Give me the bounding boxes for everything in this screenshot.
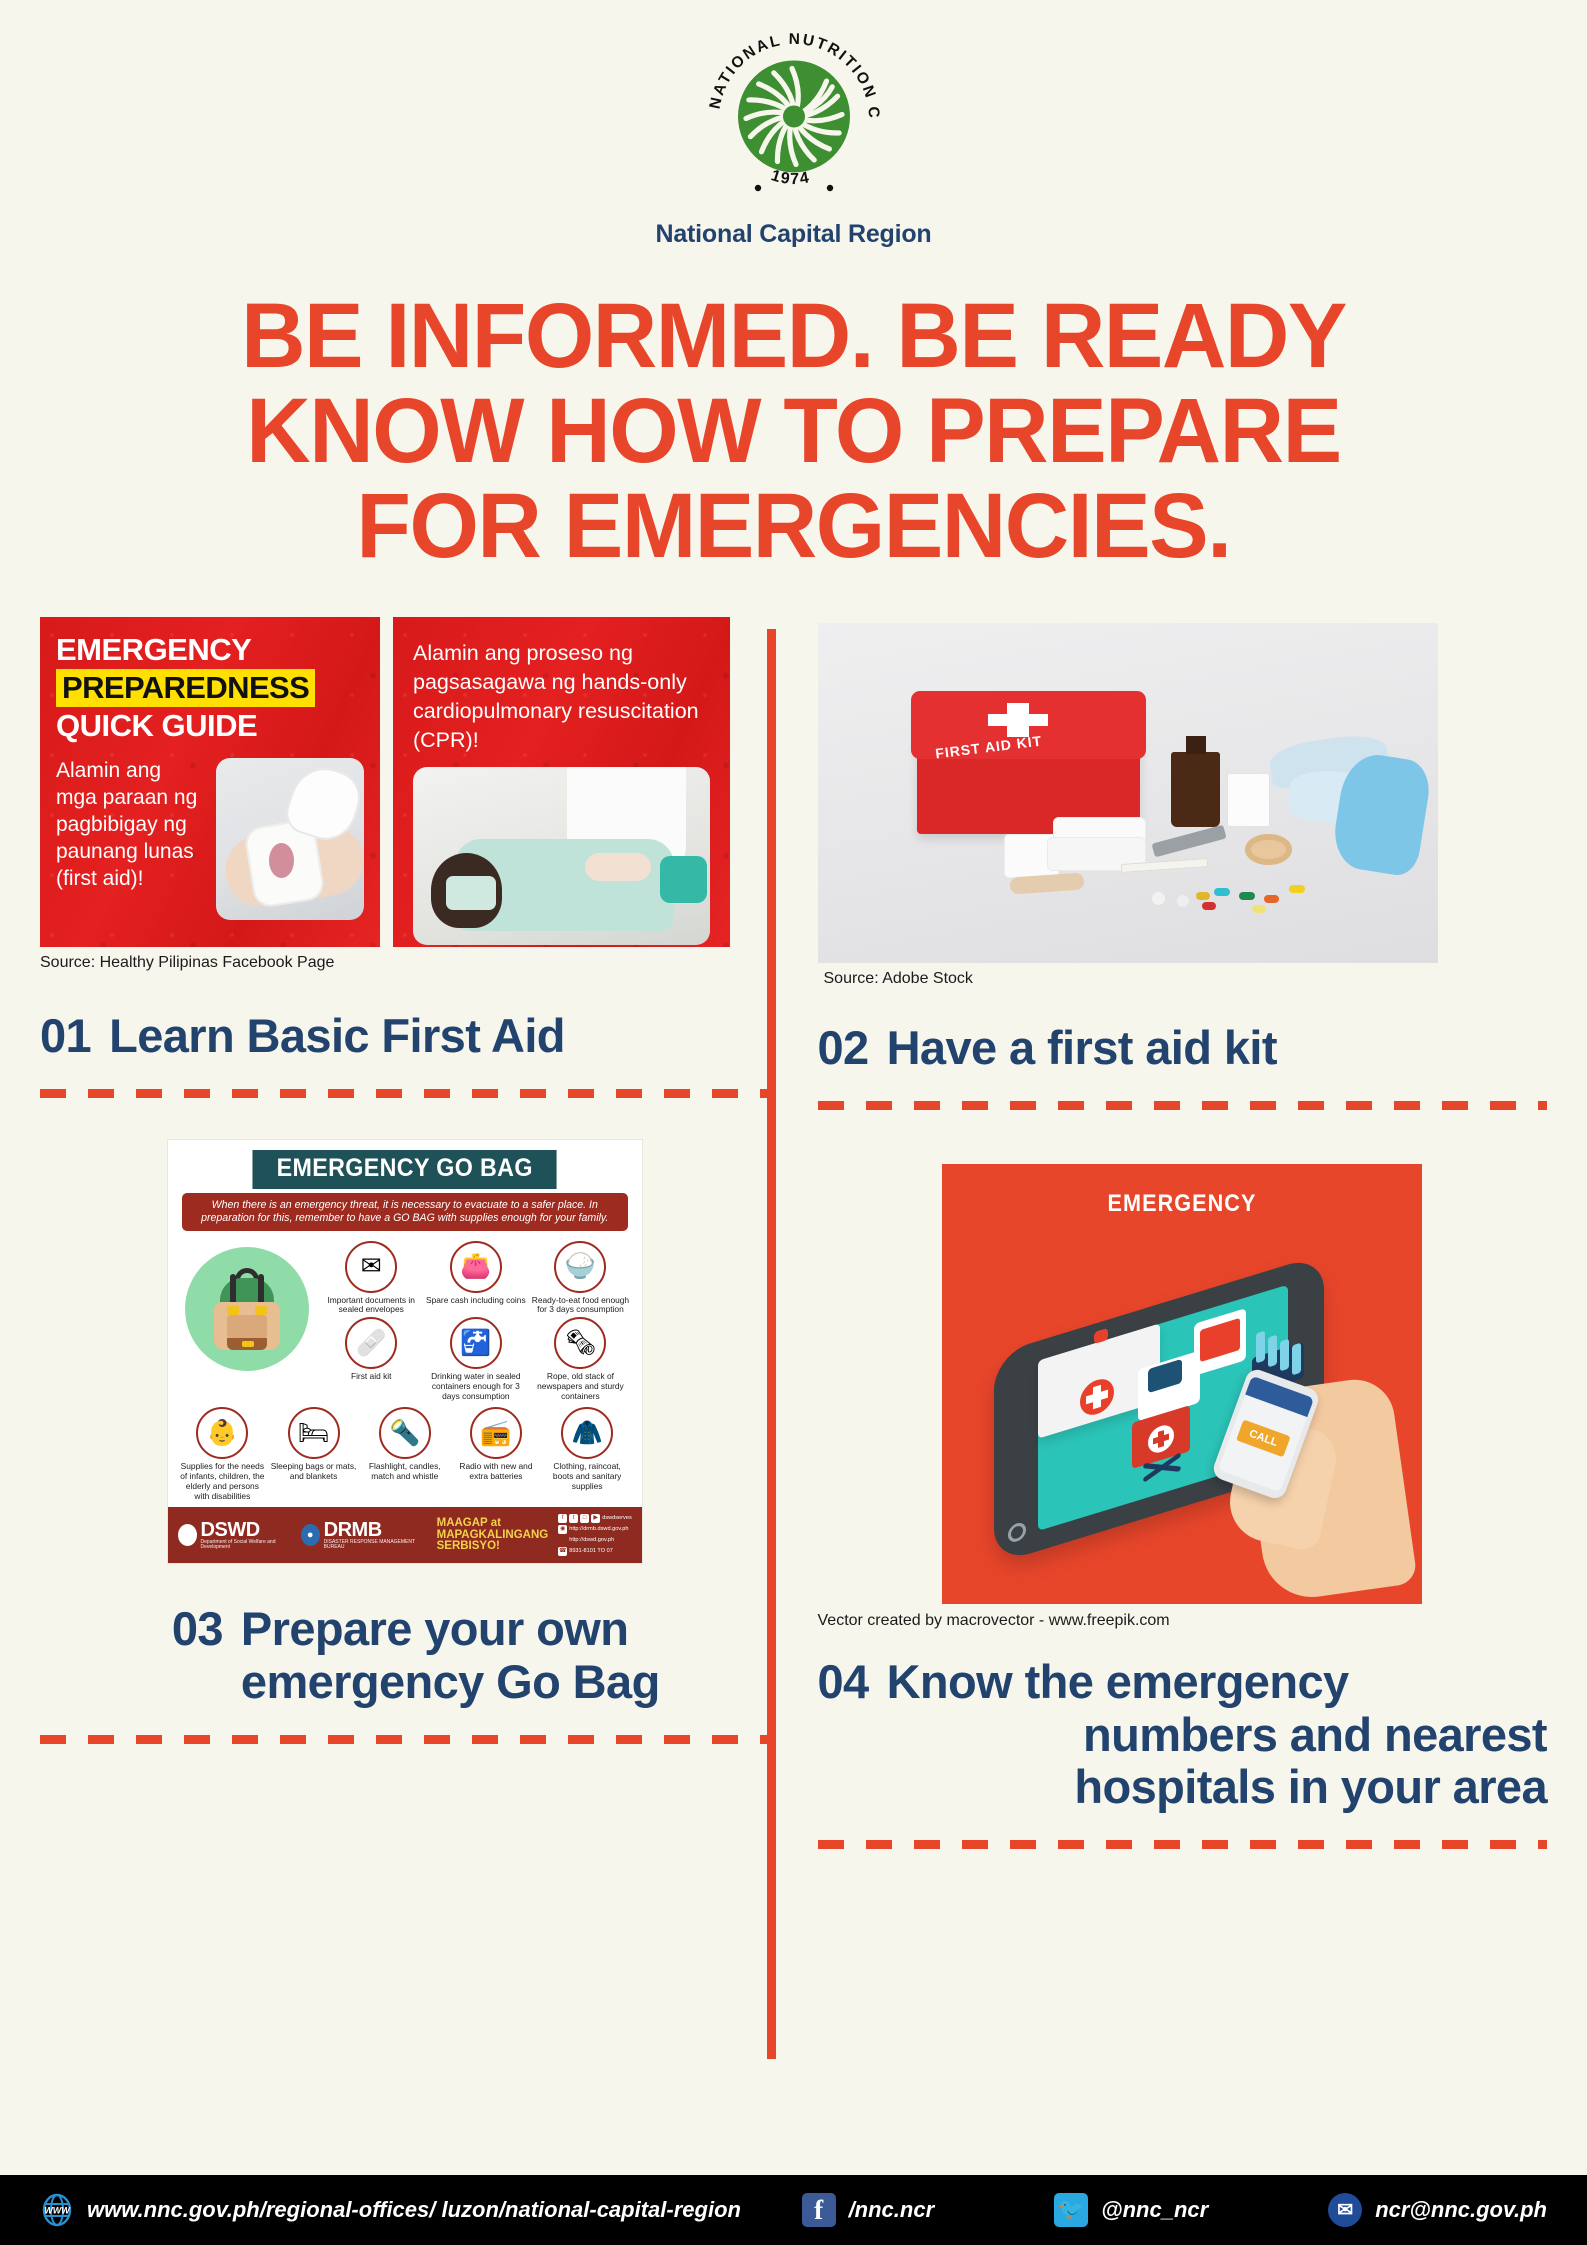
go-bag-item: 🍚 Ready-to-eat food enough for 3 days co… (529, 1241, 632, 1316)
hp-kicker: EMERGENCY (56, 634, 364, 666)
food-pack-icon: 🍚 (554, 1241, 606, 1293)
cpr-facemask-shape (446, 876, 496, 910)
go-bag-intro: When there is an emergency threat, it is… (182, 1193, 628, 1231)
maagap-campaign: MAAGAP at MAPAGKALINGANG SERBISYO! (437, 1518, 549, 1553)
footer-website-text: www.nnc.gov.ph/regional-offices/ luzon/n… (87, 2197, 741, 2223)
title-line-3: FOR EMERGENCIES. (92, 479, 1496, 574)
test-tube-shape (1256, 1330, 1265, 1363)
card-01-title: Learn Basic First Aid (109, 1010, 769, 1063)
footer-facebook-text: /nnc.ncr (849, 2197, 935, 2223)
footer-bar: WWW www.nnc.gov.ph/regional-offices/ luz… (0, 2175, 1587, 2245)
facebook-icon: f (558, 1514, 567, 1523)
hp-panel-right: Alamin ang proseso ng pagsasagawa ng han… (393, 617, 730, 947)
healthy-pilipinas-graphic: EMERGENCY PREPAREDNESS QUICK GUIDE Alami… (40, 617, 730, 947)
dswd-social-icons: f t □ ▶ dswdserves (558, 1514, 632, 1523)
footer-twitter-text: @nnc_ncr (1101, 2197, 1208, 2223)
dswd-url-2: http://dswd.gov.ph (569, 1537, 614, 1544)
kit-cross-icon (988, 714, 1048, 726)
go-bag-item-label: First aid kit (351, 1372, 392, 1382)
pill-shape (1202, 902, 1216, 910)
dswd-badge-icon: ★ (178, 1524, 197, 1546)
right-column: FIRST AID KIT (818, 617, 1548, 1849)
dswd-url-1: http://drmb.dswd.gov.ph (569, 1526, 628, 1533)
footer-email-text: ncr@nnc.gov.ph (1375, 2197, 1547, 2223)
water-bottles-icon: 🚰 (450, 1317, 502, 1369)
pill-shape (1264, 895, 1279, 903)
card-03-heading: 03 Prepare your own emergency Go Bag (40, 1603, 770, 1708)
title-line-2: KNOW HOW TO PREPARE (92, 384, 1496, 479)
go-bag-item-label: Clothing, raincoat, boots and sanitary s… (543, 1462, 632, 1491)
backpack-icon (185, 1247, 309, 1371)
go-bag-item: ✉ Important documents in sealed envelope… (320, 1241, 423, 1316)
dswd-handle: dswdserves (602, 1515, 632, 1522)
go-bag-item: 🚰 Drinking water in sealed containers en… (425, 1317, 528, 1401)
flashlight-icon: 🔦 (379, 1407, 431, 1459)
card-04-divider (818, 1840, 1548, 1849)
card-03: EMERGENCY GO BAG When there is an emerge… (40, 1140, 770, 1744)
test-tube-shape (1280, 1338, 1289, 1371)
card-01: EMERGENCY PREPAREDNESS QUICK GUIDE Alami… (40, 617, 770, 1098)
dswd-name: DSWD (201, 1521, 291, 1540)
dswd-subtitle: Department of Social Welfare and Develop… (201, 1540, 291, 1551)
envelopes-icon: ✉ (345, 1241, 397, 1293)
globe-www-icon: WWW (40, 2193, 74, 2227)
hp-subtitle: QUICK GUIDE (56, 710, 364, 743)
youtube-icon: ▶ (591, 1514, 600, 1523)
page-title: BE INFORMED. BE READY KNOW HOW TO PREPAR… (24, 289, 1563, 573)
header: NATIONAL NUTRITION COUNCIL 1974 (0, 0, 1587, 249)
left-column: EMERGENCY PREPAREDNESS QUICK GUIDE Alami… (40, 617, 770, 1849)
dswd-logo: ★ DSWD Department of Social Welfare and … (178, 1521, 291, 1551)
card-04-credit: Vector created by macrovector - www.free… (818, 1612, 1548, 1630)
diaper-icon: 👶 (196, 1407, 248, 1459)
footer-facebook[interactable]: f /nnc.ncr (802, 2193, 935, 2227)
logo-sunburst-icon (730, 52, 858, 180)
phone-icon: ☎ (558, 1547, 567, 1556)
card-01-source: Source: Healthy Pilipinas Facebook Page (40, 954, 770, 972)
card-04: EMERGENCY (818, 1164, 1548, 1849)
dswd-contact-block: f t □ ▶ dswdserves ◉ http://drmb.dswd.go… (558, 1514, 632, 1556)
go-bag-item-label: Ready-to-eat food enough for 3 days cons… (529, 1296, 632, 1316)
cpr-hands-shape (585, 853, 650, 881)
go-bag-body: ✉ Important documents in sealed envelope… (168, 1231, 642, 1406)
card-02-divider (818, 1101, 1548, 1110)
card-04-title-line-1: Know the emergency (887, 1655, 1349, 1708)
campaign-line-3: SERBISYO! (437, 1541, 549, 1553)
card-03-number: 03 (172, 1603, 223, 1708)
card-01-heading: 01 Learn Basic First Aid (40, 1010, 770, 1063)
go-bag-item: 🩹 First aid kit (320, 1317, 423, 1401)
medical-tape-shape (1245, 834, 1292, 865)
dswd-url-1-row: ◉ http://drmb.dswd.gov.ph (558, 1525, 632, 1534)
globe-icon: ◉ (558, 1525, 567, 1534)
go-bag-item-label: Drinking water in sealed containers enou… (425, 1372, 528, 1401)
drmb-logo: ● DRMB DISASTER RESPONSE MANAGEMENT BURE… (301, 1521, 421, 1551)
pill-shape (1177, 895, 1189, 907)
scissors-shape (1152, 825, 1227, 857)
go-bag-item: 🛏 Sleeping bags or mats, and blankets (269, 1407, 358, 1501)
card-01-number: 01 (40, 1010, 91, 1063)
card-04-title: Know the emergency numbers and nearest h… (887, 1656, 1547, 1814)
radio-icon: 📻 (470, 1407, 522, 1459)
rope-newspaper-icon: 🗞 (554, 1317, 606, 1369)
first-aid-kit-photo: FIRST AID KIT (818, 623, 1438, 963)
pill-shape (1152, 892, 1165, 905)
card-02-number: 02 (818, 1022, 869, 1075)
card-03-title: Prepare your own emergency Go Bag (241, 1603, 660, 1708)
cpr-photo (413, 767, 710, 945)
facebook-icon: f (802, 2193, 836, 2227)
bandaged-arm-photo (216, 758, 364, 920)
drmb-name: DRMB (324, 1521, 421, 1540)
card-04-number: 04 (818, 1656, 869, 1814)
raincoat-icon: 🧥 (561, 1407, 613, 1459)
brown-bottle-shape (1171, 752, 1221, 827)
pill-shape (1239, 892, 1255, 900)
card-01-media: EMERGENCY PREPAREDNESS QUICK GUIDE Alami… (40, 617, 770, 972)
go-bag-item-label: Flashlight, candles, match and whistle (360, 1462, 449, 1482)
nnc-logo: NATIONAL NUTRITION COUNCIL 1974 (701, 26, 887, 212)
drmb-badge-icon: ● (301, 1524, 320, 1546)
go-bag-item: 👛 Spare cash including coins (425, 1241, 528, 1316)
logo-caption: National Capital Region (656, 220, 932, 249)
card-02-heading: 02 Have a first aid kit (818, 1022, 1548, 1075)
hp-left-row: Alamin ang mga paraan ng pagbibigay ng p… (56, 758, 364, 920)
go-bag-backpack-area (178, 1241, 316, 1402)
emergency-illustration-title: EMERGENCY (966, 1190, 1398, 1218)
go-bag-poster: EMERGENCY GO BAG When there is an emerge… (168, 1140, 642, 1564)
hp-panel-left: EMERGENCY PREPAREDNESS QUICK GUIDE Alami… (40, 617, 380, 947)
twitter-icon: 🐦 (1054, 2193, 1088, 2227)
hp-highlight: PREPAREDNESS (56, 669, 315, 707)
go-bag-titlebar: EMERGENCY GO BAG (168, 1140, 642, 1189)
svg-text:WWW: WWW (44, 2206, 71, 2216)
envelope-icon: ✉ (1328, 2193, 1362, 2227)
emergency-call-illustration: EMERGENCY (942, 1164, 1422, 1604)
go-bag-item: 🗞 Rope, old stack of newspapers and stur… (529, 1317, 632, 1401)
pill-bottle-shape (1227, 773, 1270, 827)
coin-purse-icon: 👛 (450, 1241, 502, 1293)
dswd-hotline: 8931-8101 TO 07 (569, 1548, 613, 1555)
card-01-divider (40, 1089, 770, 1098)
go-bag-item-label: Sleeping bags or mats, and blankets (269, 1462, 358, 1482)
card-02-source: Source: Adobe Stock (824, 970, 1548, 988)
go-bag-item: 📻 Radio with new and extra batteries (451, 1407, 540, 1501)
go-bag-items-row: 👶 Supplies for the needs of infants, chi… (168, 1405, 642, 1507)
go-bag-item: 🧥 Clothing, raincoat, boots and sanitary… (543, 1407, 632, 1501)
go-bag-poster-footer: ★ DSWD Department of Social Welfare and … (168, 1507, 642, 1563)
dswd-hotline-row: ☎ 8931-8101 TO 07 (558, 1547, 632, 1556)
card-03-title-line-2: emergency Go Bag (241, 1656, 660, 1709)
go-bag-item: 🔦 Flashlight, candles, match and whistle (360, 1407, 449, 1501)
drmb-subtitle: DISASTER RESPONSE MANAGEMENT BUREAU (324, 1540, 421, 1551)
dswd-url-2-row: ◉ http://dswd.gov.ph (558, 1536, 632, 1545)
go-bag-item-label: Supplies for the needs of infants, child… (178, 1462, 267, 1501)
card-04-media: EMERGENCY (818, 1164, 1548, 1630)
pill-shape (1196, 892, 1210, 900)
card-04-title-line-2: numbers and nearest (887, 1709, 1547, 1762)
test-tube-shape (1292, 1342, 1301, 1375)
go-bag-items-grid: ✉ Important documents in sealed envelope… (320, 1241, 632, 1402)
footer-email[interactable]: ✉ ncr@nnc.gov.ph (1328, 2193, 1547, 2227)
home-button-icon (1008, 1521, 1026, 1545)
sleeping-bag-icon: 🛏 (288, 1407, 340, 1459)
card-03-divider (40, 1735, 770, 1744)
instagram-icon: □ (580, 1514, 589, 1523)
go-bag-item-label: Radio with new and extra batteries (451, 1462, 540, 1482)
card-02-title: Have a first aid kit (887, 1022, 1547, 1075)
card-02-media: FIRST AID KIT (818, 617, 1548, 988)
cpr-towel-shape (660, 856, 708, 902)
go-bag-title: EMERGENCY GO BAG (252, 1150, 557, 1189)
hp-right-body: Alamin ang proseso ng pagsasagawa ng han… (413, 639, 710, 754)
campaign-line-1: MAAGAP at (437, 1518, 549, 1530)
pill-shape (1252, 905, 1266, 913)
go-bag-item-label: Spare cash including coins (426, 1296, 526, 1306)
test-tube-shape (1268, 1334, 1277, 1367)
pill-shape (1214, 888, 1230, 896)
card-03-title-line-1: Prepare your own (241, 1602, 628, 1655)
vertical-divider (767, 629, 776, 2059)
first-aid-kit-icon: 🩹 (345, 1317, 397, 1369)
footer-website[interactable]: WWW www.nnc.gov.ph/regional-offices/ luz… (40, 2193, 741, 2227)
card-04-heading: 04 Know the emergency numbers and neares… (818, 1656, 1548, 1814)
card-02: FIRST AID KIT (818, 617, 1548, 1110)
cards-grid: EMERGENCY PREPAREDNESS QUICK GUIDE Alami… (0, 617, 1587, 1849)
twitter-icon: t (569, 1514, 578, 1523)
go-bag-item-label: Rope, old stack of newspapers and sturdy… (529, 1372, 632, 1401)
go-bag-item: 👶 Supplies for the needs of infants, chi… (178, 1407, 267, 1501)
hp-left-body: Alamin ang mga paraan ng pagbibigay ng p… (56, 758, 206, 920)
pill-shape (1289, 885, 1305, 893)
card-04-title-line-3: hospitals in your area (887, 1761, 1547, 1814)
title-line-1: BE INFORMED. BE READY (92, 289, 1496, 384)
footer-twitter[interactable]: 🐦 @nnc_ncr (1054, 2193, 1208, 2227)
go-bag-item-label: Important documents in sealed envelopes (320, 1296, 423, 1316)
